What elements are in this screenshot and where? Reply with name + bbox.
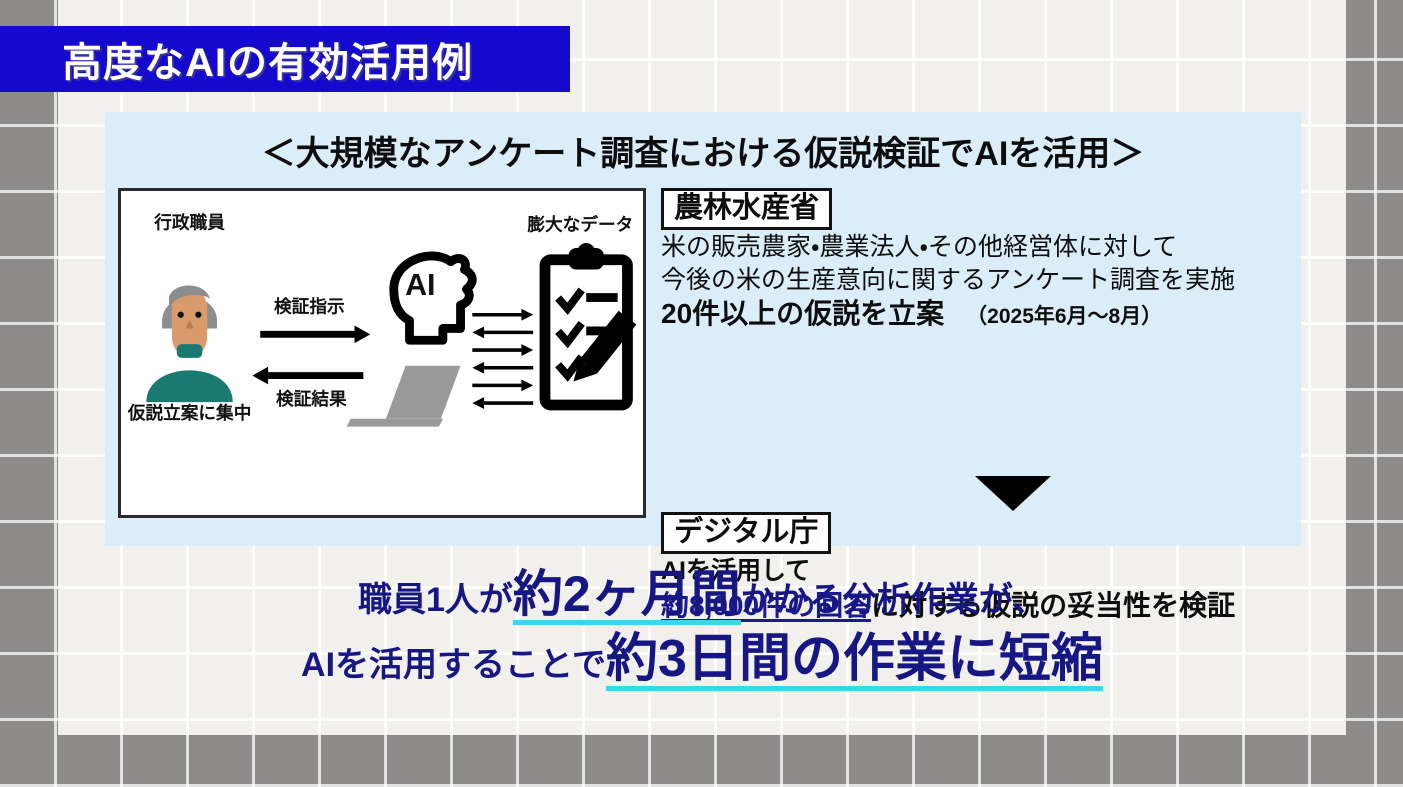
agency-tag-maff: 農林水産省 — [661, 188, 832, 230]
conclusion-block: 職員1人が約2ヶ月間かかる分析作業が、 AIを活用することで約3日間の作業に短縮 — [58, 566, 1346, 688]
maff-line-2: 今後の米の生産意向に関するアンケート調査を実施 — [661, 265, 1291, 296]
ai-label: AI — [405, 268, 435, 302]
blue-content-panel: ＜大規模なアンケート調査における仮説検証でAIを活用＞ 行政職員 — [105, 112, 1301, 546]
right-text-column: 農林水産省 米の販売農家・農業法人・その他経営体に対して 今後の米の生産意向に関… — [661, 188, 1291, 332]
clipboard-icon — [545, 243, 636, 405]
conclusion-line1-prefix: 職員1人が — [358, 581, 513, 619]
maff-line-3: 20件以上の仮説を立案（2025年6月～8月） — [661, 297, 1291, 331]
conclusion-line1-emphasis: 約2ヶ月間 — [513, 566, 741, 625]
person-label-bottom: 仮説立案に集中 — [127, 402, 252, 423]
maff-period-note: （2025年6月～8月） — [966, 305, 1162, 328]
conclusion-line2-emphasis: 約3日間の作業に短縮 — [606, 630, 1103, 691]
data-label: 膨大なデータ — [527, 213, 633, 234]
workflow-diagram: 行政職員 仮説立案に集中 検証指示 — [121, 191, 643, 515]
ai-head-icon: AI — [394, 256, 472, 340]
maff-line-1: 米の販売農家・農業法人・その他経営体に対して — [661, 232, 1291, 263]
conclusion-line-1: 職員1人が約2ヶ月間かかる分析作業が、 — [58, 566, 1346, 622]
title-banner: 高度なAIの有効活用例 — [0, 26, 570, 92]
person-icon — [146, 285, 232, 402]
illustration-box: 行政職員 仮説立案に集中 検証指示 — [118, 188, 646, 518]
arrow-label-instruction: 検証指示 — [274, 296, 345, 317]
subtitle: ＜大規模なアンケート調査における仮説検証でAIを活用＞ — [105, 126, 1301, 175]
person-label-top: 行政職員 — [153, 211, 225, 232]
agency-tag-digital: デジタル庁 — [661, 512, 831, 554]
exchange-arrows — [472, 309, 533, 409]
maff-hypothesis-count: 20件以上の仮説を立案 — [661, 298, 944, 329]
conclusion-line-2: AIを活用することで約3日間の作業に短縮 — [58, 630, 1346, 688]
down-arrow-icon — [975, 476, 1051, 511]
page-title: 高度なAIの有効活用例 — [62, 30, 473, 88]
arrow-label-result: 検証結果 — [276, 388, 347, 409]
arrow-right-instruction — [260, 326, 370, 344]
conclusion-line1-suffix: かかる分析作業が、 — [741, 581, 1046, 619]
block-maff: 農林水産省 米の販売農家・農業法人・その他経営体に対して 今後の米の生産意向に関… — [661, 188, 1291, 332]
conclusion-line2-prefix: AIを活用することで — [301, 646, 606, 684]
laptop-icon — [347, 366, 461, 427]
slide-root: 高度なAIの有効活用例 ＜大規模なアンケート調査における仮説検証でAIを活用＞ … — [0, 0, 1403, 787]
arrow-left-result — [252, 367, 363, 385]
